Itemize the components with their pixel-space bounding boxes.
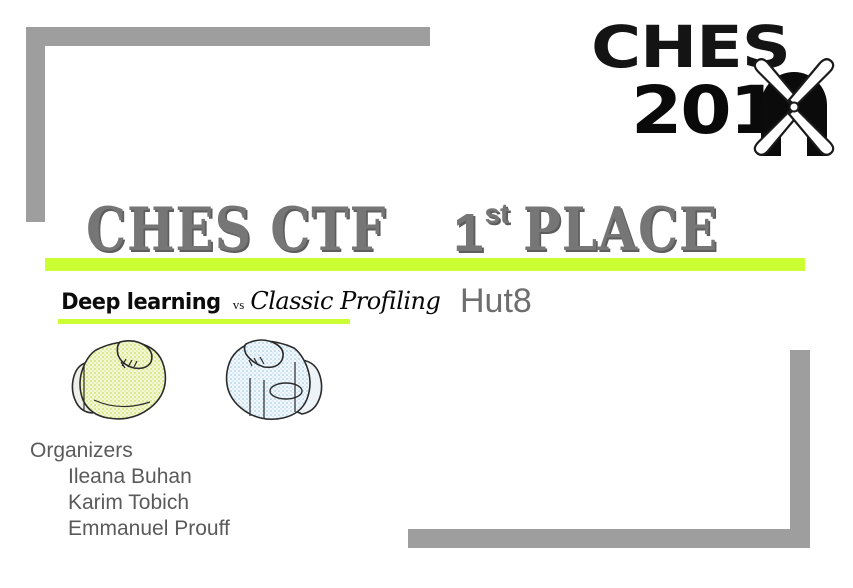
organizers-heading: Organizers [30,438,230,464]
team-name: Hut8 [460,282,532,320]
matchup-versus-label: vs [233,298,245,312]
title-place: PLACE [523,200,718,260]
organizer-name-2: Karim Tobich [68,490,230,516]
glove-left [72,341,165,419]
matchup-badge-row: Deep learning vs Classic Profiling [57,288,352,315]
organizer-name-3: Emmanuel Prouff [68,516,230,542]
frame-top-left-vertical [26,27,45,222]
matchup-right-label: Classic Profiling [250,288,440,314]
frame-top-left-horizontal [26,27,430,46]
title-rank-number: 1 [453,206,483,260]
organizer-name-1: Ileana Buhan [68,464,230,490]
page-title: CHES CTF 1 st PLACE [86,198,756,260]
matchup-accent-underline [58,319,350,324]
matchup-left-label: Deep learning [61,291,220,315]
frame-bottom-right-horizontal [408,529,810,548]
organizers-block: Organizers Ileana Buhan Karim Tobich Emm… [30,438,230,542]
matchup-badge: Deep learning vs Classic Profiling [57,288,352,328]
slide-canvas: CHES 201 CHES CTF 1 st PLACE Hut8 Deep l… [0,0,853,588]
glove-right [227,340,322,419]
windmill-icon [745,56,843,158]
boxing-gloves-illustration [50,332,350,437]
title-main: CHES CTF [86,200,386,260]
ches-logo: CHES 201 [585,18,843,158]
title-accent-underline [45,258,805,271]
title-rank-ordinal: st [484,200,509,228]
frame-bottom-right-vertical [790,350,810,548]
